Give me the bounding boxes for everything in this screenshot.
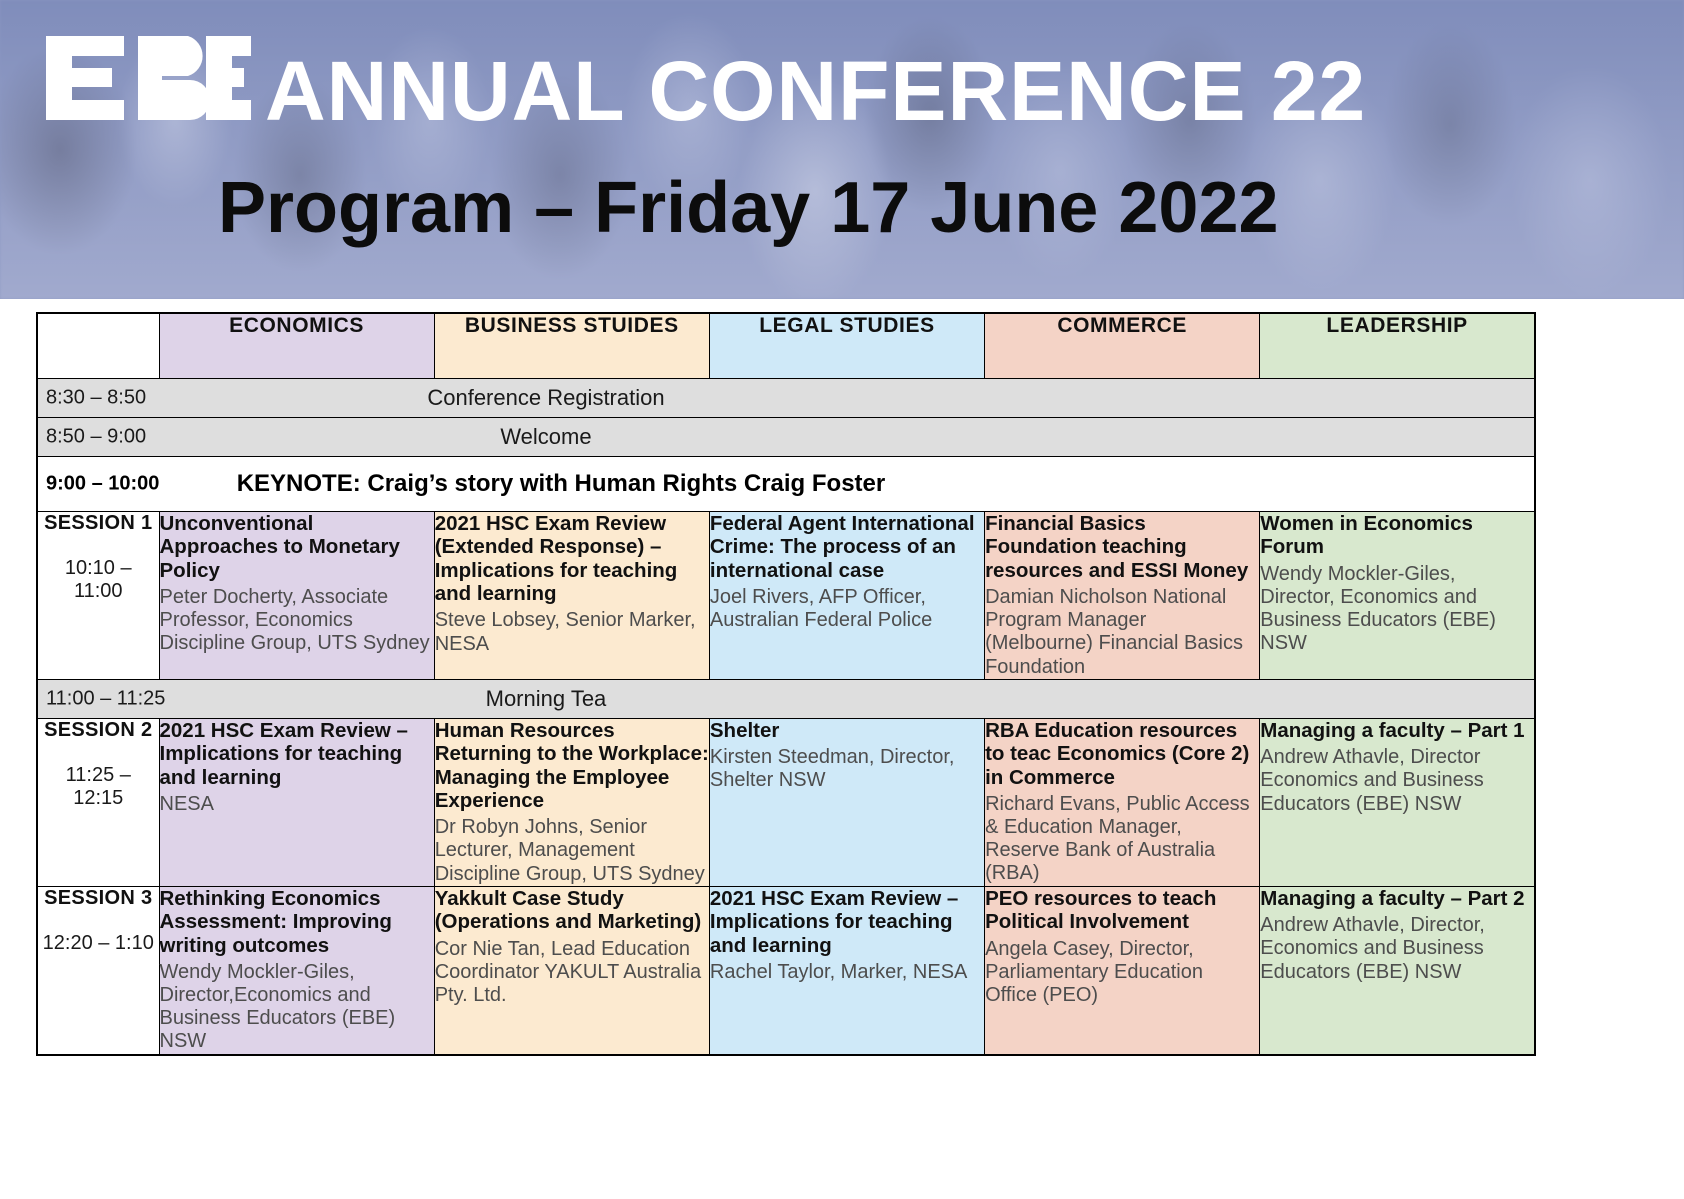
session-2-leadership-presenter: Andrew Athavle, Director Economics and B… bbox=[1260, 746, 1534, 816]
session-3-commerce-cell[interactable]: PEO resources to teach Political Involve… bbox=[985, 886, 1260, 1054]
session-1-leadership-presenter: Wendy Mockler-Giles, Director, Economics… bbox=[1260, 563, 1534, 656]
session-3-legal-title: 2021 HSC Exam Review – Implications for … bbox=[710, 887, 984, 957]
session-3-business-cell[interactable]: Yakkult Case Study (Operations and Marke… bbox=[434, 886, 709, 1054]
session-3-economics-title: Rethinking Economics Assessment: Improvi… bbox=[160, 887, 434, 957]
session-1-business-title: 2021 HSC Exam Review (Extended Response)… bbox=[435, 512, 709, 605]
session-2-name: SESSION 2 bbox=[38, 719, 159, 742]
session-2-time: 11:25 – 12:15 bbox=[38, 764, 159, 810]
welcome-label: Welcome bbox=[38, 424, 1534, 450]
session-1-business-cell[interactable]: 2021 HSC Exam Review (Extended Response)… bbox=[434, 512, 709, 680]
session-2-economics-cell[interactable]: 2021 HSC Exam Review – Implications for … bbox=[159, 718, 434, 886]
session-1-commerce-presenter: Damian Nicholson National Program Manage… bbox=[985, 586, 1259, 679]
conference-title: ANNUAL CONFERENCE 22 bbox=[46, 36, 1366, 133]
session-1-commerce-title: Financial Basics Foundation teaching res… bbox=[985, 512, 1259, 582]
program-table-wrapper: ECONOMICS BUSINESS STUIDES LEGAL STUDIES… bbox=[36, 312, 1534, 1056]
header-cell-economics: ECONOMICS bbox=[159, 313, 434, 379]
session-1-label-cell: SESSION 1 10:10 – 11:00 bbox=[37, 512, 159, 680]
session-3-economics-presenter: Wendy Mockler-Giles, Director,Economics … bbox=[160, 961, 434, 1054]
session-2-commerce-cell[interactable]: RBA Education resources to teac Economic… bbox=[985, 718, 1260, 886]
session-3-label-cell: SESSION 3 12:20 – 1:10 bbox=[37, 886, 159, 1054]
session-2-business-cell[interactable]: Human Resources Returning to the Workpla… bbox=[434, 718, 709, 886]
session-3-time: 12:20 – 1:10 bbox=[38, 932, 159, 955]
session-2-label-cell: SESSION 2 11:25 – 12:15 bbox=[37, 718, 159, 886]
header-cell-legal-studies: LEGAL STUDIES bbox=[709, 313, 984, 379]
row-keynote: 9:00 – 10:00 KEYNOTE: Craig’s story with… bbox=[37, 457, 1535, 512]
morning-tea-label: Morning Tea bbox=[38, 686, 1534, 712]
keynote-band-cell: 9:00 – 10:00 KEYNOTE: Craig’s story with… bbox=[37, 457, 1535, 512]
header-cell-time bbox=[37, 313, 159, 379]
conference-banner: ANNUAL CONFERENCE 22 Program – Friday 17… bbox=[0, 0, 1684, 299]
session-3-leadership-cell[interactable]: Managing a faculty – Part 2 Andrew Athav… bbox=[1260, 886, 1535, 1054]
session-3-economics-cell[interactable]: Rethinking Economics Assessment: Improvi… bbox=[159, 886, 434, 1054]
welcome-band-cell: 8:50 – 9:00 Welcome bbox=[37, 418, 1535, 457]
registration-band-cell: 8:30 – 8:50 Conference Registration bbox=[37, 379, 1535, 418]
keynote-label: KEYNOTE: Craig’s story with Human Rights… bbox=[38, 470, 1534, 498]
session-1-leadership-cell[interactable]: Women in Economics Forum Wendy Mockler-G… bbox=[1260, 512, 1535, 680]
registration-label: Conference Registration bbox=[38, 385, 1534, 411]
session-2-business-presenter: Dr Robyn Johns, Senior Lecturer, Managem… bbox=[435, 816, 709, 886]
session-1-leadership-title: Women in Economics Forum bbox=[1260, 512, 1534, 559]
program-date-subtitle: Program – Friday 17 June 2022 bbox=[218, 172, 1279, 244]
row-session-2: SESSION 2 11:25 – 12:15 2021 HSC Exam Re… bbox=[37, 718, 1535, 886]
session-3-business-presenter: Cor Nie Tan, Lead Education Coordinator … bbox=[435, 938, 709, 1008]
session-2-business-title: Human Resources Returning to the Workpla… bbox=[435, 719, 709, 812]
row-session-3: SESSION 3 12:20 – 1:10 Rethinking Econom… bbox=[37, 886, 1535, 1054]
session-2-legal-title: Shelter bbox=[710, 719, 984, 742]
row-morning-tea: 11:00 – 11:25 Morning Tea bbox=[37, 679, 1535, 718]
session-3-name: SESSION 3 bbox=[38, 887, 159, 910]
session-3-leadership-title: Managing a faculty – Part 2 bbox=[1260, 887, 1534, 910]
session-1-economics-cell[interactable]: Unconventional Approaches to Monetary Po… bbox=[159, 512, 434, 680]
conference-title-text: ANNUAL CONFERENCE 22 bbox=[265, 44, 1366, 138]
session-1-business-presenter: Steve Lobsey, Senior Marker, NESA bbox=[435, 609, 709, 655]
session-2-legal-cell[interactable]: Shelter Kirsten Steedman, Director, Shel… bbox=[709, 718, 984, 886]
session-2-legal-presenter: Kirsten Steedman, Director, Shelter NSW bbox=[710, 746, 984, 792]
row-welcome: 8:50 – 9:00 Welcome bbox=[37, 418, 1535, 457]
session-3-commerce-presenter: Angela Casey, Director, Parliamentary Ed… bbox=[985, 938, 1259, 1008]
session-3-leadership-presenter: Andrew Athavle, Director, Economics and … bbox=[1260, 914, 1534, 984]
session-2-economics-presenter: NESA bbox=[160, 793, 434, 816]
session-1-commerce-cell[interactable]: Financial Basics Foundation teaching res… bbox=[985, 512, 1260, 680]
session-3-business-title: Yakkult Case Study (Operations and Marke… bbox=[435, 887, 709, 934]
session-1-name: SESSION 1 bbox=[38, 512, 159, 535]
ebe-logo-icon bbox=[46, 36, 251, 120]
session-1-time: 10:10 – 11:00 bbox=[38, 557, 159, 603]
session-2-commerce-title: RBA Education resources to teac Economic… bbox=[985, 719, 1259, 789]
header-cell-commerce: COMMERCE bbox=[985, 313, 1260, 379]
session-2-economics-title: 2021 HSC Exam Review – Implications for … bbox=[160, 719, 434, 789]
session-2-leadership-title: Managing a faculty – Part 1 bbox=[1260, 719, 1534, 742]
morning-tea-band-cell: 11:00 – 11:25 Morning Tea bbox=[37, 679, 1535, 718]
session-2-commerce-presenter: Richard Evans, Public Access & Education… bbox=[985, 793, 1259, 886]
session-1-legal-presenter: Joel Rivers, AFP Officer, Australian Fed… bbox=[710, 586, 984, 632]
header-cell-business-studies: BUSINESS STUIDES bbox=[434, 313, 709, 379]
row-session-1: SESSION 1 10:10 – 11:00 Unconventional A… bbox=[37, 512, 1535, 680]
session-3-legal-presenter: Rachel Taylor, Marker, NESA bbox=[710, 961, 984, 984]
header-cell-leadership: LEADERSHIP bbox=[1260, 313, 1535, 379]
session-3-commerce-title: PEO resources to teach Political Involve… bbox=[985, 887, 1259, 934]
session-1-legal-cell[interactable]: Federal Agent International Crime: The p… bbox=[709, 512, 984, 680]
session-1-economics-presenter: Peter Docherty, Associate Professor, Eco… bbox=[160, 586, 434, 656]
session-1-economics-title: Unconventional Approaches to Monetary Po… bbox=[160, 512, 434, 582]
row-conference-registration: 8:30 – 8:50 Conference Registration bbox=[37, 379, 1535, 418]
program-table: ECONOMICS BUSINESS STUIDES LEGAL STUDIES… bbox=[36, 312, 1536, 1056]
session-1-legal-title: Federal Agent International Crime: The p… bbox=[710, 512, 984, 582]
session-3-legal-cell[interactable]: 2021 HSC Exam Review – Implications for … bbox=[709, 886, 984, 1054]
table-header-row: ECONOMICS BUSINESS STUIDES LEGAL STUDIES… bbox=[37, 313, 1535, 379]
session-2-leadership-cell[interactable]: Managing a faculty – Part 1 Andrew Athav… bbox=[1260, 718, 1535, 886]
